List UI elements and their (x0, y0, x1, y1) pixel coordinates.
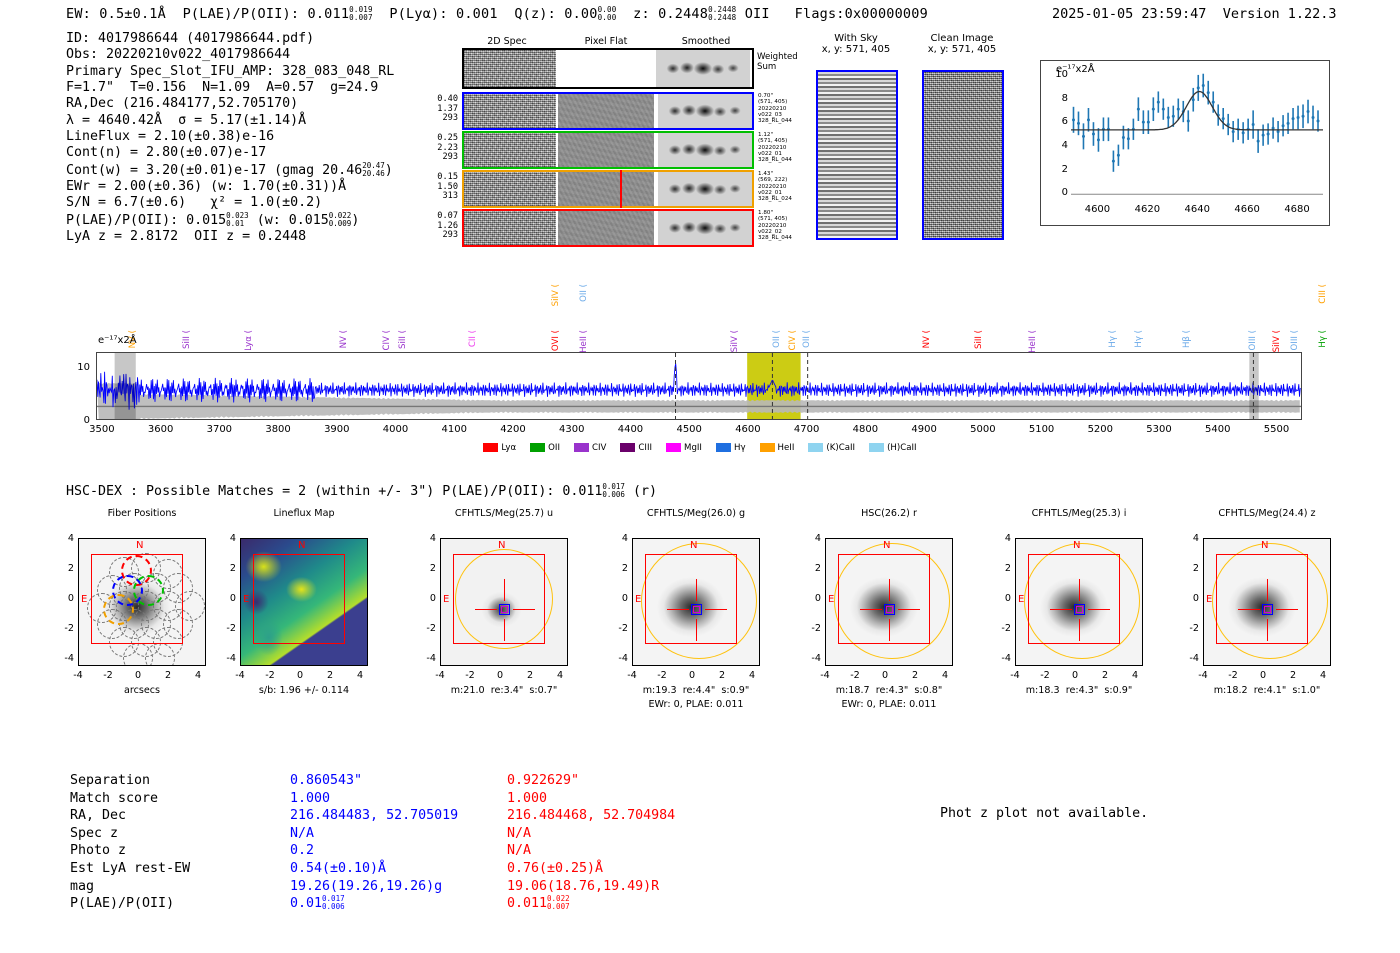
cutout-x-tick: 4 (1310, 670, 1336, 681)
cutout-y-tick: -4 (803, 653, 821, 664)
fiber-2dspec-image (464, 172, 556, 206)
legend-item: CIII (620, 443, 652, 453)
match-table-value-blue: 1.000 (290, 790, 330, 808)
compass-e: E (243, 594, 249, 605)
cutout-image[interactable] (1203, 538, 1331, 666)
match-table-value-red: 19.06(18.76,19.49)R (507, 878, 659, 896)
info-primary-spec: Primary Spec_Slot_IFU_AMP: 328_083_048_R… (66, 64, 394, 80)
spectrum-x-tick: 4500 (669, 424, 709, 435)
fiber-stat: 313 (430, 192, 458, 202)
cutout-x-tick: 2 (517, 670, 543, 681)
legend-item: MgII (666, 443, 702, 453)
cutout-y-tick: -4 (418, 653, 436, 664)
cutout-y-tick: -2 (218, 623, 236, 634)
spectrum-y-tick: 10 (72, 362, 90, 373)
cutout-x-tick: -2 (1032, 670, 1058, 681)
fiber-smoothed-image (658, 211, 752, 245)
cutout-caption: s/b: 1.96 +/- 0.114 (206, 685, 402, 696)
legend-swatch (483, 443, 498, 452)
info-plae-tail: ) (351, 213, 359, 228)
cutout-title: Lineflux Map (216, 508, 392, 519)
spectrum-x-tick: 4900 (904, 424, 944, 435)
match-table-value-red: N/A (507, 825, 531, 843)
match-table-value-blue: 0.860543" (290, 772, 362, 790)
emission-line-label: HeII ( (579, 330, 589, 353)
emission-line-label: OII ( (802, 330, 812, 348)
spectrum-x-tick: 5400 (1198, 424, 1238, 435)
clean-image-coords: x, y: 571, 405 (912, 44, 1012, 55)
spectrum-x-tick: 4800 (845, 424, 885, 435)
cutout-x-tick: 4 (739, 670, 765, 681)
compass-n: N (498, 540, 505, 551)
cutout-y-tick: -2 (993, 623, 1011, 634)
spectrum-x-tick: 5100 (1022, 424, 1062, 435)
emission-line-label: Hγ ( (1108, 330, 1118, 348)
cutout-x-tick: -2 (842, 670, 868, 681)
cutout-x-tick: -2 (457, 670, 483, 681)
spectrum-x-tick: 4700 (787, 424, 827, 435)
emission-line-label: Hβ ( (1182, 330, 1192, 348)
fiber-row (462, 92, 754, 130)
cutout-caption: m:19.3 re:4.4" s:0.9" (598, 685, 794, 696)
match-table-label: P(LAE)/P(OII) (70, 895, 174, 913)
cutout-y-tick: -4 (218, 653, 236, 664)
compass-n: N (1073, 540, 1080, 551)
clean-image-cutout: Clean Image x, y: 571, 405 (912, 33, 1012, 55)
x-tick: 4620 (1129, 204, 1165, 215)
cutout-title: CFHTLS/Meg(26.0) g (608, 508, 784, 519)
match-table-label: Match score (70, 790, 158, 808)
version: Version 1.22.3 (1223, 6, 1337, 22)
emission-line-label: OII ( (772, 330, 782, 348)
emission-line-label: HeII ( (1028, 330, 1038, 353)
spectrum-x-tick: 4400 (610, 424, 650, 435)
with-sky-image (816, 70, 898, 240)
cutout-y-tick: -4 (1181, 653, 1199, 664)
spectrum-x-tick: 5000 (963, 424, 1003, 435)
fiber-left-stats: 0.151.50313 (430, 173, 458, 202)
fiber-smoothed-image (658, 133, 752, 167)
compass-e: E (635, 594, 641, 605)
info-lambda: λ = 4640.42Å σ = 5.17(±1.14)Å (66, 113, 394, 129)
line-zoom-plot (1040, 60, 1330, 226)
cutout-title: CFHTLS/Meg(25.7) u (416, 508, 592, 519)
with-sky-coords: x, y: 571, 405 (806, 44, 906, 55)
legend-item: CIV (574, 443, 606, 453)
cutout-image[interactable] (240, 538, 368, 666)
cutout-y-tick: 2 (803, 563, 821, 574)
header-plae-range: 0.0190.007 (349, 6, 373, 22)
compass-n: N (690, 540, 697, 551)
spectrum-x-tick: 5200 (1080, 424, 1120, 435)
fiber-row (462, 170, 754, 208)
legend-label: Hγ (734, 443, 746, 453)
cutout-x-tick: 0 (1062, 670, 1088, 681)
cutout-title: Fiber Positions (54, 508, 230, 519)
legend-label: HeII (778, 443, 795, 453)
info-radec: RA,Dec (216.484177,52.705170) (66, 96, 394, 112)
match-table-label: Spec z (70, 825, 118, 843)
hscdex-band: (r) (633, 484, 657, 499)
hscdex-summary: HSC-DEX : Possible Matches = 2 (within +… (66, 483, 657, 499)
spectrum-x-tick: 5300 (1139, 424, 1179, 435)
emission-line-label: Lyα ( (244, 330, 254, 351)
emission-line-label: NV ( (922, 330, 932, 348)
full-spectrum-panel (96, 352, 1302, 420)
cutout-y-tick: 2 (610, 563, 628, 574)
cutout-x-tick: -4 (427, 670, 453, 681)
compass-n: N (298, 540, 305, 551)
info-plae-range1: 0.0230.01 (226, 212, 249, 228)
weighted-sum-row (462, 48, 754, 89)
emission-line-label: Hγ ( (1134, 330, 1144, 348)
fiber-row (462, 131, 754, 169)
legend-item: OII (530, 443, 560, 453)
header-timestamp-version: 2025-01-05 23:59:47 Version 1.22.3 (1052, 6, 1337, 22)
with-sky-cutout: With Sky x, y: 571, 405 (806, 33, 906, 55)
emission-line-label: OVI ( (551, 330, 561, 351)
cutout-y-tick: -4 (56, 653, 74, 664)
match-table-value-red: 1.000 (507, 790, 547, 808)
emission-line-legend: LyαOIICIVCIIIMgIIHγHeII(K)CaII(H)CaII (0, 443, 1400, 453)
emission-line-label: OIII ( (1248, 330, 1258, 350)
cutout-x-tick: 2 (317, 670, 343, 681)
fiber-right-meta: 0.70" (571, 405) 20220210 v022_03 328_RL… (758, 93, 792, 124)
header-z-species: OII (745, 6, 770, 22)
match-table-label: Photo z (70, 842, 126, 860)
full-spectrum-units-label: e⁻¹⁷x2Å (98, 335, 137, 346)
x-tick: 4600 (1079, 204, 1115, 215)
legend-label: CIV (592, 443, 606, 453)
cutout-x-tick: -4 (812, 670, 838, 681)
cutout-y-tick: 2 (218, 563, 236, 574)
emission-line-label: SiII ( (398, 330, 408, 349)
cutout-y-tick: 0 (1181, 593, 1199, 604)
x-tick: 4640 (1179, 204, 1215, 215)
cutout-x-tick: 2 (902, 670, 928, 681)
match-table-value-red: 0.76(±0.25)Å (507, 860, 603, 878)
legend-item: Lyα (483, 443, 516, 453)
cutout-y-tick: 4 (218, 533, 236, 544)
fiber-2dspec-image (464, 133, 556, 167)
cutout-x-tick: 4 (547, 670, 573, 681)
cutout-x-tick: -2 (257, 670, 283, 681)
cutout-y-tick: 4 (418, 533, 436, 544)
info-plae-range2: 0.0220.009 (329, 212, 352, 228)
cutout-x-tick: -2 (95, 670, 121, 681)
spectrum-x-tick: 4300 (552, 424, 592, 435)
fiber-pixelflat-image (558, 94, 654, 128)
with-sky-title: With Sky (806, 33, 906, 44)
legend-swatch (666, 443, 681, 452)
legend-swatch (716, 443, 731, 452)
cutout-x-tick: 0 (872, 670, 898, 681)
header-z-range: 0.24480.2448 (708, 6, 736, 22)
emission-line-label: OII ( (579, 284, 589, 302)
fiber-stat: 293 (430, 153, 458, 163)
legend-swatch (808, 443, 823, 452)
info-cont-w-text: Cont(w) = 3.20(±0.01)e-17 (gmag 20.46 (66, 163, 362, 178)
header-plae-label: P(LAE)/P(OII): (183, 6, 300, 22)
cutout-y-tick: -2 (1181, 623, 1199, 634)
cutout-y-tick: -2 (803, 623, 821, 634)
legend-swatch (760, 443, 775, 452)
info-seeing: F=1.7" T=0.156 N=1.09 A=0.57 g=24.9 (66, 80, 394, 96)
fiber-left-stats: 0.401.37293 (430, 95, 458, 124)
cutout-row: Fiber PositionsNE420-2-4-4-2024arcsecsLi… (0, 508, 1400, 728)
header-plya: P(Lyα): 0.001 (389, 6, 497, 22)
fiber-left-stats: 0.252.23293 (430, 134, 458, 163)
info-plae-head: P(LAE)/P(OII): 0.015 (66, 213, 226, 228)
cutout-y-tick: 0 (610, 593, 628, 604)
match-table-value-red: 216.484468, 52.704984 (507, 807, 675, 825)
legend-item: HeII (760, 443, 795, 453)
weighted-sum-2dspec-image (464, 50, 556, 87)
compass-e: E (1018, 594, 1024, 605)
legend-swatch (620, 443, 635, 452)
emission-line-label: CII ( (468, 330, 478, 347)
legend-item: (H)CaII (869, 443, 917, 453)
cutout-x-tick: 0 (125, 670, 151, 681)
match-table-value-blue: 19.26(19.26,19.26)g (290, 878, 442, 896)
cutout-caption: m:18.7 re:4.3" s:0.8" (791, 685, 987, 696)
hscdex-text: HSC-DEX : Possible Matches = 2 (within +… (66, 484, 602, 499)
cutout-image[interactable] (632, 538, 760, 666)
info-lineflux: LineFlux = 2.10(±0.38)e-16 (66, 129, 394, 145)
emission-line-label: CIV ( (788, 330, 798, 351)
header-qz: Q(z): 0.00 (514, 6, 597, 22)
fiber-right-meta: 1.80" (571, 405) 20220210 v022_02 328_RL… (758, 210, 792, 241)
cutout-x-tick: 0 (1250, 670, 1276, 681)
cutout-y-tick: 4 (993, 533, 1011, 544)
y-tick: 10 (1054, 69, 1068, 80)
compass-n: N (136, 540, 143, 551)
cutout-y-tick: -2 (418, 623, 436, 634)
legend-swatch (869, 443, 884, 452)
info-obs: Obs: 20220210v022_4017986644 (66, 47, 394, 63)
match-table-value-red: 0.922629" (507, 772, 579, 790)
y-tick: 4 (1054, 140, 1068, 151)
cutout-x-tick: 2 (1280, 670, 1306, 681)
panel-title-2dspec: 2D Spec (462, 36, 552, 47)
compass-e: E (443, 594, 449, 605)
fiber-right-meta: 1.43" (569, 222) 20220210 v022_01 328_RL… (758, 171, 792, 202)
cutout-x-tick: -2 (1220, 670, 1246, 681)
aperture-marker (620, 170, 622, 208)
cutout-x-tick: 2 (709, 670, 735, 681)
cutout-image[interactable] (78, 538, 206, 666)
legend-label: Lyα (501, 443, 516, 453)
cutout-image[interactable] (825, 538, 953, 666)
spectrum-x-tick: 3700 (199, 424, 239, 435)
fiber-pixelflat-image (558, 172, 654, 206)
match-table-label: Separation (70, 772, 150, 790)
cutout-x-tick: 2 (155, 670, 181, 681)
cutout-caption-secondary: EWr: 0, PLAE: 0.011 (598, 699, 794, 710)
cutout-x-tick: 2 (1092, 670, 1118, 681)
timestamp: 2025-01-05 23:59:47 (1052, 6, 1206, 22)
fiber-pixelflat-image (558, 211, 654, 245)
panel-title-pixelflat: Pixel Flat (558, 36, 654, 47)
match-table-value-blue: 0.54(±0.10)Å (290, 860, 386, 878)
legend-label: (K)CaII (826, 443, 855, 453)
x-tick: 4680 (1279, 204, 1315, 215)
fiber-left-stats: 0.071.26293 (430, 212, 458, 241)
spectrum-x-tick: 4000 (376, 424, 416, 435)
emission-line-label: NV ( (339, 330, 349, 348)
cutout-y-tick: -2 (56, 623, 74, 634)
emission-line-label: SiIV ( (730, 330, 740, 352)
legend-item: Hγ (716, 443, 746, 453)
legend-label: (H)CaII (887, 443, 917, 453)
y-tick: 0 (1054, 187, 1068, 198)
spectrum-x-tick: 3900 (317, 424, 357, 435)
cutout-title: HSC(26.2) r (801, 508, 977, 519)
emission-line-label: Hγ ( (1318, 330, 1328, 348)
cutout-y-tick: 2 (56, 563, 74, 574)
info-cont-w-tail: ) (385, 163, 393, 178)
header-z: z: 0.2448 (633, 6, 708, 22)
legend-label: CIII (638, 443, 652, 453)
info-id: ID: 4017986644 (4017986644.pdf) (66, 31, 394, 47)
info-plae-mid: (w: 0.015 (249, 213, 329, 228)
legend-label: OII (548, 443, 560, 453)
spectrum-x-tick: 4200 (493, 424, 533, 435)
cutout-y-tick: -4 (993, 653, 1011, 664)
spectrum-x-tick: 3600 (141, 424, 181, 435)
clean-image-title: Clean Image (912, 33, 1012, 44)
cutout-y-tick: 2 (993, 563, 1011, 574)
fiber-2dspec-image (464, 94, 556, 128)
weighted-sum-pixelflat-image (556, 50, 654, 87)
match-table-label: mag (70, 878, 94, 896)
spectrum-x-tick: 3800 (258, 424, 298, 435)
photoz-note: Phot z plot not available. (940, 806, 1148, 821)
legend-swatch (530, 443, 545, 452)
match-table-value-blue: 0.2 (290, 842, 314, 860)
cutout-x-tick: -4 (1190, 670, 1216, 681)
cutout-image[interactable] (440, 538, 568, 666)
info-redshifts: LyA z = 2.8172 OII z = 0.2448 (66, 229, 394, 245)
cutout-caption: m:18.2 re:4.1" s:1.0" (1169, 685, 1365, 696)
fiber-pixelflat-image (558, 133, 654, 167)
cutout-x-tick: 4 (347, 670, 373, 681)
cutout-x-tick: -4 (227, 670, 253, 681)
match-table-value-blue: N/A (290, 825, 314, 843)
compass-e: E (828, 594, 834, 605)
cutout-x-tick: -4 (619, 670, 645, 681)
weighted-sum-smoothed-image (656, 50, 750, 87)
cutout-y-tick: -4 (610, 653, 628, 664)
header-flags: Flags:0x00000009 (795, 6, 928, 22)
y-tick: 8 (1054, 93, 1068, 104)
header-qz-range: 0.000.00 (598, 6, 617, 22)
compass-n: N (883, 540, 890, 551)
info-cont-n: Cont(n) = 2.80(±0.07)e-17 (66, 145, 394, 161)
cutout-y-tick: 0 (56, 593, 74, 604)
y-tick: 6 (1054, 116, 1068, 127)
hscdex-range: 0.0170.006 (602, 483, 625, 499)
match-table-label: Est LyA rest-EW (70, 860, 190, 878)
cutout-x-tick: 0 (287, 670, 313, 681)
emission-line-labels: NV (SiII (Lyα (NV (CIV (SiII (CII (SiIV … (60, 276, 1350, 358)
emission-line-label: CIV ( (382, 330, 392, 351)
x-tick: 4660 (1229, 204, 1265, 215)
cutout-title: CFHTLS/Meg(24.4) z (1179, 508, 1355, 519)
match-table-value-blue: 0.010.0170.006 (290, 895, 345, 913)
panel-title-smoothed: Smoothed (658, 36, 754, 47)
emission-line-label: CIII ( (1318, 284, 1328, 304)
emission-line-label: SiII ( (182, 330, 192, 349)
cutout-y-tick: -2 (610, 623, 628, 634)
cutout-x-tick: -2 (649, 670, 675, 681)
cutout-title: CFHTLS/Meg(25.3) i (991, 508, 1167, 519)
cutout-y-tick: 0 (803, 593, 821, 604)
cutout-y-tick: 4 (610, 533, 628, 544)
y-tick: 2 (1054, 164, 1068, 175)
header-ew: EW: 0.5±0.1Å (66, 6, 166, 22)
info-cont-w: Cont(w) = 3.20(±0.01)e-17 (gmag 20.4620.… (66, 162, 394, 179)
header-summary-line: EW: 0.5±0.1Å P(LAE)/P(OII): 0.0110.0190.… (66, 6, 928, 22)
cutout-y-tick: 2 (418, 563, 436, 574)
cutout-x-tick: 0 (487, 670, 513, 681)
emission-line-label: SiIV ( (551, 284, 561, 306)
weighted-sum-label: Weighted Sum (757, 52, 798, 72)
emission-line-label: SiIV ( (1272, 330, 1282, 352)
cutout-y-tick: 0 (418, 593, 436, 604)
cutout-y-tick: 2 (1181, 563, 1199, 574)
info-cont-w-range: 20.4720.46 (362, 162, 385, 178)
legend-label: MgII (684, 443, 702, 453)
fiber-right-meta: 1.12" (571, 405) 20220210 v022_01 328_RL… (758, 132, 792, 163)
cutout-y-tick: 4 (1181, 533, 1199, 544)
info-snr: S/N = 6.7(±0.6) χ² = 1.0(±0.2) (66, 195, 394, 211)
cutout-caption: m:21.0 re:3.4" s:0.7" (406, 685, 602, 696)
emission-line-label: OIII ( (1290, 330, 1300, 350)
cutout-y-tick: 0 (993, 593, 1011, 604)
match-table-label: RA, Dec (70, 807, 126, 825)
cutout-x-tick: 0 (679, 670, 705, 681)
info-ewr: EWr = 2.00(±0.36) (w: 1.70(±0.31))Å (66, 179, 394, 195)
cutout-y-tick: 0 (218, 593, 236, 604)
match-table-value-blue: 216.484483, 52.705019 (290, 807, 458, 825)
compass-n: N (1261, 540, 1268, 551)
cutout-caption: m:18.3 re:4.3" s:0.9" (981, 685, 1177, 696)
fiber-stat: 293 (430, 114, 458, 124)
header-plae-value: 0.011 (308, 6, 350, 22)
emission-line-label: SiII ( (974, 330, 984, 349)
cutout-caption-secondary: EWr: 0, PLAE: 0.011 (791, 699, 987, 710)
legend-swatch (574, 443, 589, 452)
cutout-image[interactable] (1015, 538, 1143, 666)
spectrum-x-tick: 4100 (434, 424, 474, 435)
fiber-2dspec-image (464, 211, 556, 245)
match-table-value-red: N/A (507, 842, 531, 860)
cutout-x-tick: -4 (1002, 670, 1028, 681)
compass-e: E (81, 594, 87, 605)
match-table-value-red: 0.0110.0220.007 (507, 895, 570, 913)
cutout-x-tick: 4 (932, 670, 958, 681)
clean-image-image (922, 70, 1004, 240)
fiber-row (462, 209, 754, 247)
spectrum-y-tick: 0 (72, 415, 90, 426)
source-info-block: ID: 4017986644 (4017986644.pdf) Obs: 202… (66, 31, 394, 245)
cutout-x-tick: 4 (1122, 670, 1148, 681)
fiber-smoothed-image (658, 172, 752, 206)
info-plae: P(LAE)/P(OII): 0.0150.0230.01 (w: 0.0150… (66, 212, 394, 229)
fiber-stat: 293 (430, 231, 458, 241)
cutout-y-tick: 4 (56, 533, 74, 544)
